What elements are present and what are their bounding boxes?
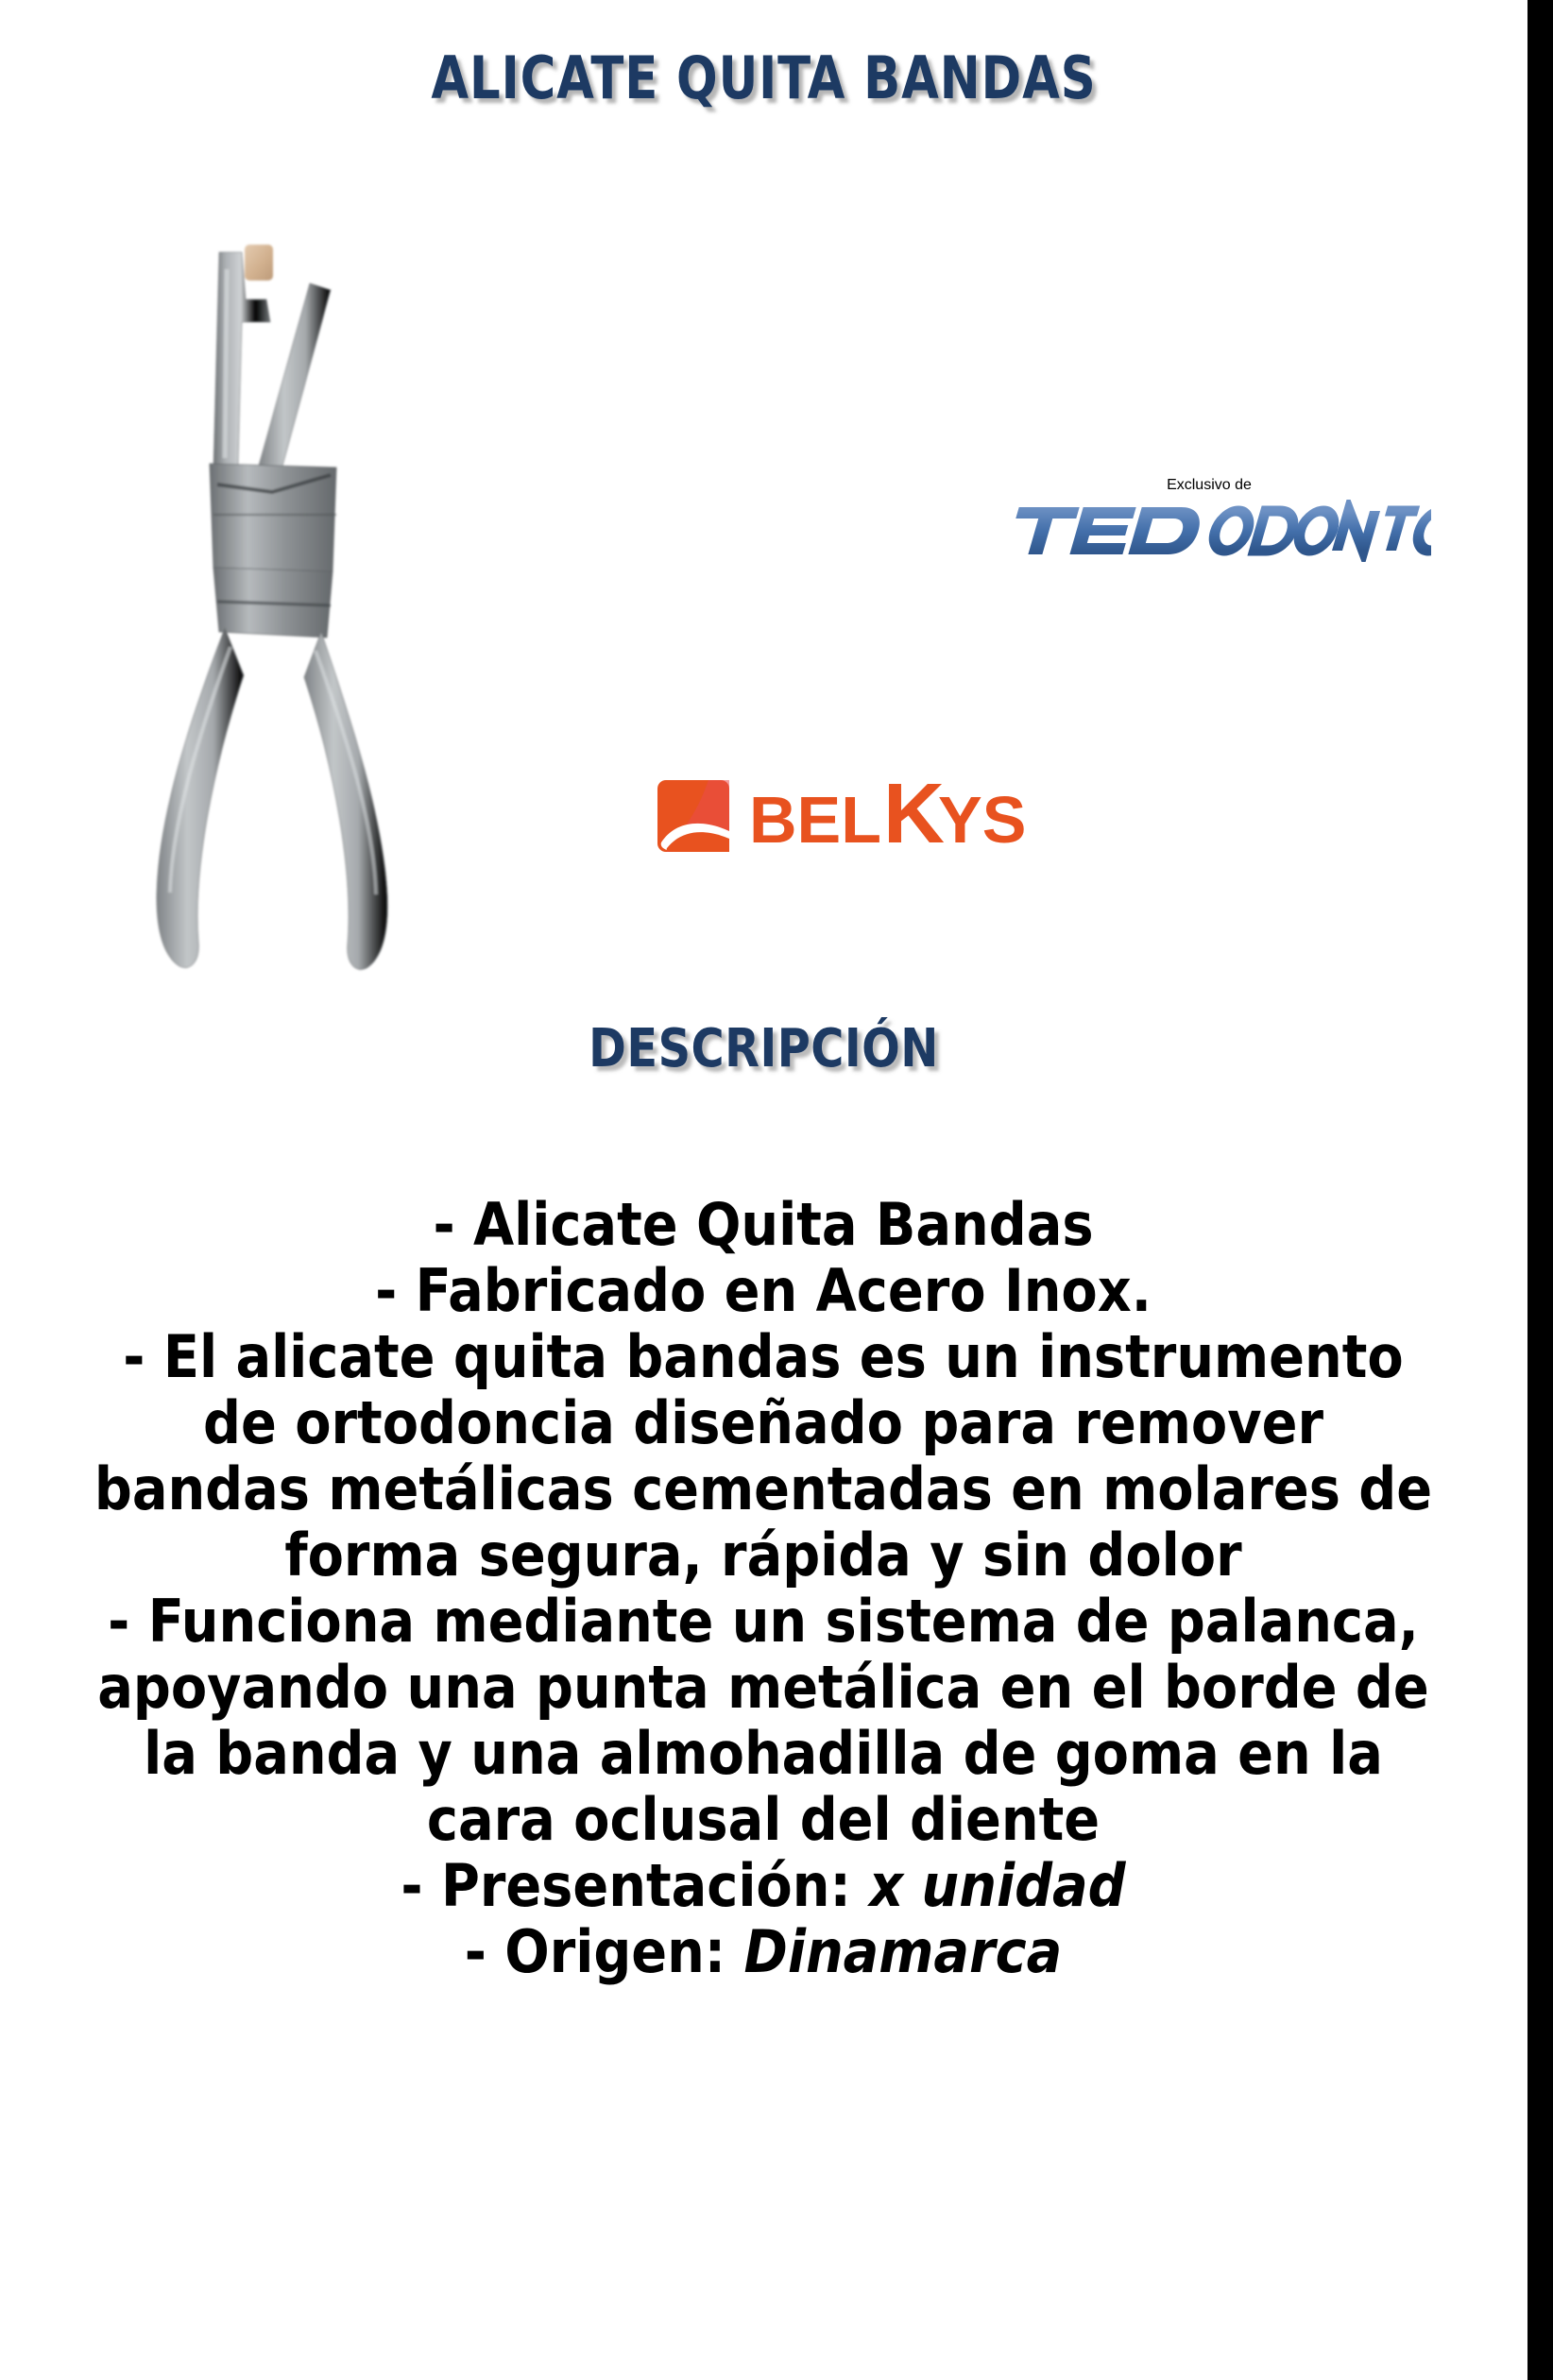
description-line: bandas metálicas cementadas en molares d…: [17, 1456, 1510, 1522]
presentation-label: - Presentación:: [401, 1851, 850, 1920]
belkys-brand-logo: BEL K YS: [652, 756, 1086, 878]
description-line: - El alicate quita bandas es un instrume…: [17, 1324, 1510, 1390]
exclusive-label: Exclusivo de: [945, 477, 1474, 494]
exclusive-distributor-block: Exclusivo de: [945, 477, 1474, 562]
description-heading: DESCRIPCIÓN: [38, 1018, 1489, 1079]
product-info-page: ALICATE QUITA BANDAS: [0, 0, 1553, 2380]
description-body: - Alicate Quita Bandas - Fabricado en Ac…: [17, 1192, 1510, 1985]
svg-text:K: K: [883, 767, 945, 861]
svg-text:BEL: BEL: [749, 783, 881, 857]
svg-text:YS: YS: [938, 783, 1026, 857]
belkys-mark-icon: [657, 780, 729, 852]
description-line: la banda y una almohadilla de goma en la: [17, 1721, 1510, 1787]
presentation-line: - Presentación: x unidad: [17, 1853, 1510, 1919]
description-line: apoyando una punta metálica en el borde …: [17, 1655, 1510, 1721]
description-line: de ortodoncia diseñado para remover: [17, 1390, 1510, 1456]
description-line: - Fabricado en Acero Inox.: [17, 1258, 1510, 1324]
origin-value: Dinamarca: [744, 1917, 1063, 1986]
origin-line: - Origen: Dinamarca: [17, 1919, 1510, 1985]
page-title: ALICATE QUITA BANDAS: [61, 43, 1467, 112]
description-line: - Alicate Quita Bandas: [17, 1192, 1510, 1258]
description-line: forma segura, rápida y sin dolor: [17, 1522, 1510, 1589]
product-image-pliers: [151, 231, 463, 977]
ted-odontologia-logo: [945, 500, 1474, 562]
presentation-value: x unidad: [869, 1851, 1125, 1920]
description-line: - Funciona mediante un sistema de palanc…: [17, 1589, 1510, 1655]
origin-label: - Origen:: [465, 1917, 725, 1986]
page-edge-bar: [1527, 0, 1553, 2380]
description-line: cara oclusal del diente: [17, 1787, 1510, 1853]
